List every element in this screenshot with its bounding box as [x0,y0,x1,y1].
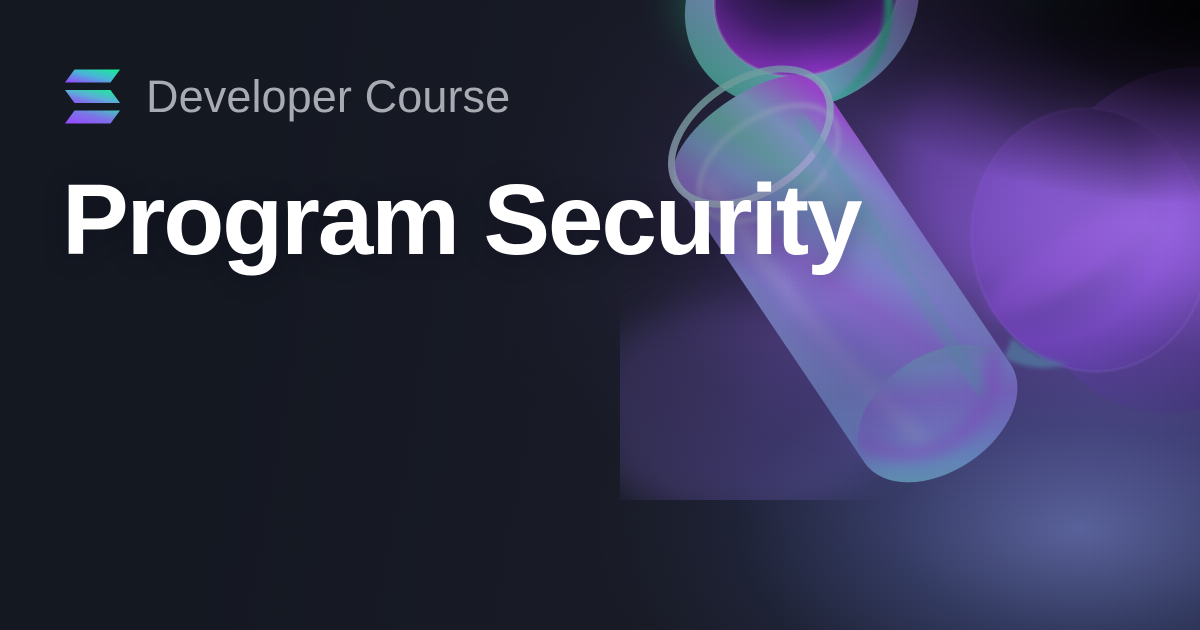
og-card: Developer Course Program Security [0,0,1200,630]
page-title: Program Security [62,170,1200,270]
eyebrow-label: Developer Course [146,74,510,119]
solana-logo-icon [62,66,123,127]
brand-row: Developer Course [62,62,1200,130]
card-content: Developer Course Program Security [62,62,1200,337]
